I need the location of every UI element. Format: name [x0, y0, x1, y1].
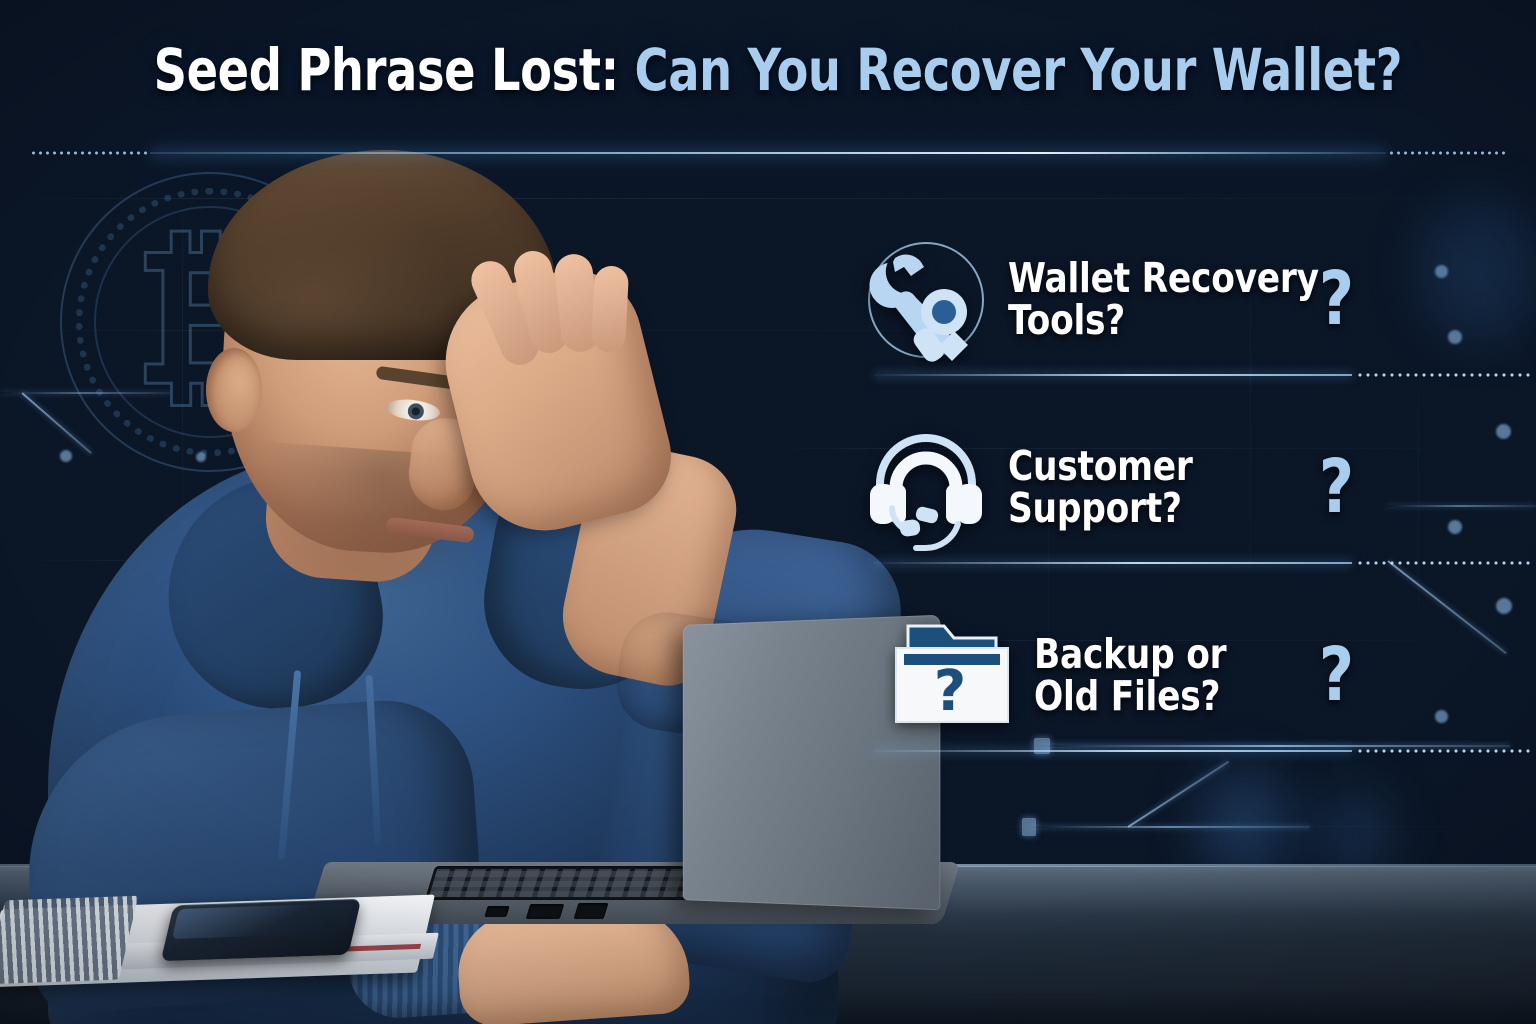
feature-divider	[874, 374, 1532, 377]
divider-dots-left	[30, 151, 148, 155]
feature-label: Customer Support?	[1008, 446, 1193, 530]
feature-label: Backup or Old Files?	[1034, 634, 1226, 718]
feature-item-customer-support[interactable]: Customer Support? ?	[862, 402, 1462, 590]
divider-glow-line	[150, 152, 1386, 154]
feature-divider	[874, 562, 1532, 565]
feature-divider	[874, 750, 1532, 753]
promo-banner: ₿	[0, 0, 1536, 1024]
feature-label: Wallet Recovery Tools?	[1008, 258, 1319, 342]
divider-dots-right	[1388, 151, 1506, 155]
headset-icon	[862, 424, 990, 552]
feature-list: Wallet Recovery Tools? ?	[862, 214, 1462, 778]
svg-text:?: ?	[934, 659, 966, 724]
folder-question-icon: ?	[888, 612, 1016, 740]
question-mark-icon: ?	[1319, 638, 1354, 712]
feature-item-backup-old-files[interactable]: ? Backup or Old Files? ?	[862, 590, 1462, 778]
feature-item-wallet-recovery-tools[interactable]: Wallet Recovery Tools? ?	[862, 214, 1462, 402]
title-part-primary: Seed Phrase Lost:	[154, 36, 619, 104]
page-title: Seed Phrase Lost: Can You Recover Your W…	[154, 36, 1383, 104]
wrench-magnifier-icon	[862, 236, 990, 364]
question-mark-icon: ?	[1319, 262, 1354, 336]
title-part-secondary: Can You Recover Your Wallet?	[619, 36, 1402, 104]
header-divider	[30, 148, 1506, 158]
question-mark-icon: ?	[1319, 450, 1354, 524]
